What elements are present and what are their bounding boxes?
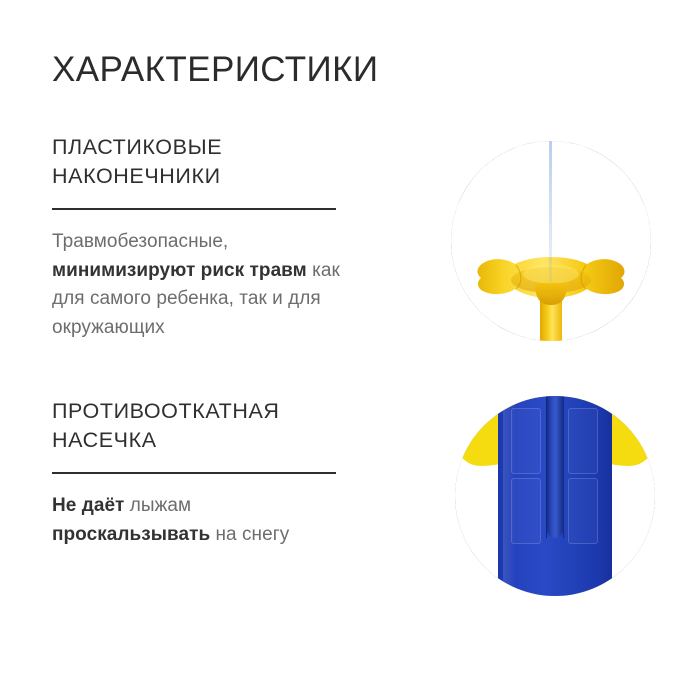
heading-divider [52, 208, 336, 210]
ski-surface-sheen [503, 396, 515, 596]
feature-body-text: Травмобезопасные, минимизируют риск трав… [52, 228, 352, 342]
feature-heading-line-1: ПЛАСТИКОВЫЕ [52, 133, 352, 162]
feature-heading-line-2: НАСЕЧКА [52, 426, 352, 455]
product-feature-card: ХАРАКТЕРИСТИКИ ПЛАСТИКОВЫЕ НАКОНЕЧНИКИ Т… [0, 0, 700, 700]
ski-notch-panel [568, 478, 598, 544]
feature-body-text: Не даёт лыжам проскальзывать на снегу [52, 492, 352, 549]
feature-heading: ПРОТИВООТКАТНАЯ НАСЕЧКА [52, 397, 352, 455]
feature-body-part-bold: минимизируют риск травм [52, 260, 307, 281]
feature-body-part: Травмобезопасные, [52, 231, 228, 252]
feature-heading: ПЛАСТИКОВЫЕ НАКОНЕЧНИКИ [52, 133, 352, 191]
ski-pole-highlight [549, 141, 552, 282]
pole-illustration [451, 141, 651, 341]
photo-clip [451, 141, 651, 341]
heading-divider [52, 472, 336, 474]
feature-heading-line-2: НАКОНЕЧНИКИ [52, 162, 352, 191]
ski-notch-panel [568, 408, 598, 474]
feature-heading-line-1: ПРОТИВООТКАТНАЯ [52, 397, 352, 426]
ski-illustration [455, 396, 655, 596]
feature-block-plastic-tips: ПЛАСТИКОВЫЕ НАКОНЕЧНИКИ Травмобезопасные… [52, 133, 352, 342]
feature-body-part-bold: проскальзывать [52, 524, 210, 545]
ski-pole-basket-photo [451, 141, 651, 341]
feature-body-part: лыжам [124, 495, 191, 516]
ski-center-rib [547, 396, 563, 538]
feature-block-antislip-notch: ПРОТИВООТКАТНАЯ НАСЕЧКА Не даёт лыжам пр… [52, 397, 352, 549]
ski-antislip-notch-photo [455, 396, 655, 596]
ski-notch-panel [511, 478, 541, 544]
ski-notch-panel [511, 408, 541, 474]
photo-clip [455, 396, 655, 596]
ski-center-rib-edge [563, 396, 564, 538]
feature-body-part: на снегу [210, 524, 289, 545]
ski-center-rib-edge [546, 396, 547, 538]
feature-body-part-bold: Не даёт [52, 495, 124, 516]
page-title: ХАРАКТЕРИСТИКИ [52, 48, 378, 92]
